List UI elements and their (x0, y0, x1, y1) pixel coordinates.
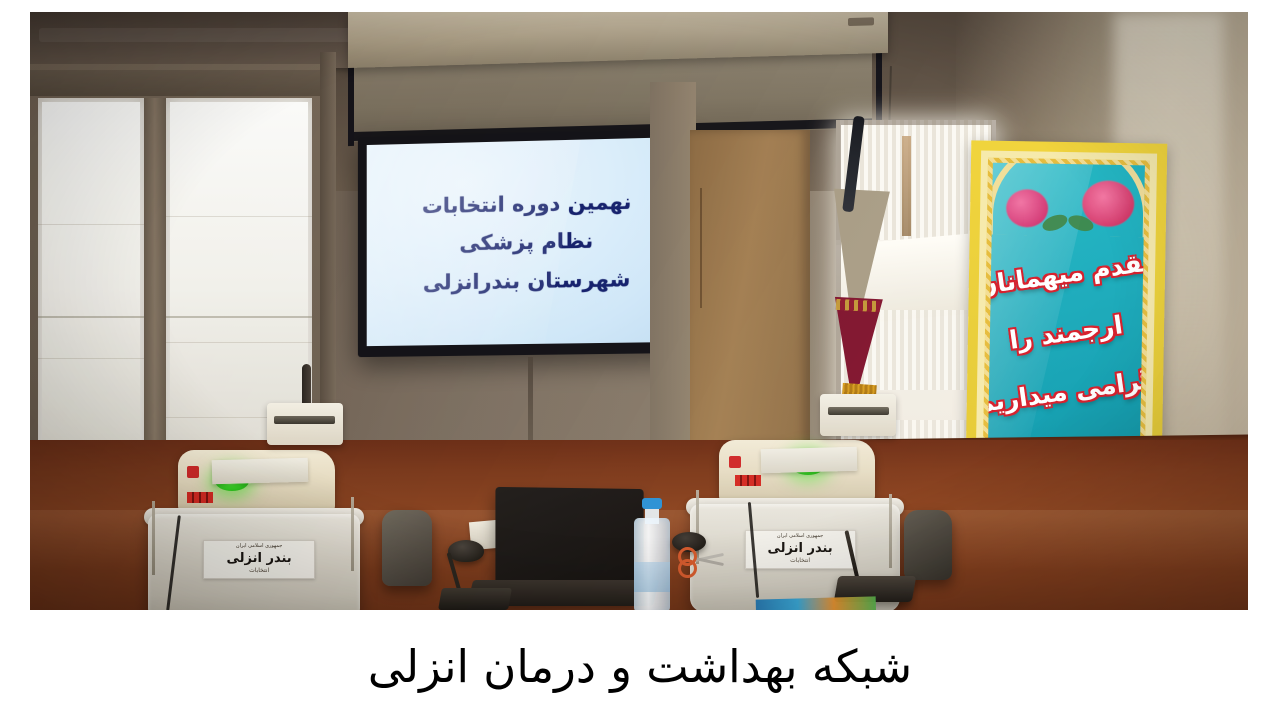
photo-container: نهمین دوره انتخابات نظام پزشکی شهرستان ب… (30, 12, 1248, 610)
desk-microphone-left[interactable] (434, 552, 520, 610)
receipt-printer-right[interactable] (820, 394, 896, 436)
label-main-text-left: بندر انزلی (206, 551, 312, 567)
microphone-base-left (438, 588, 512, 610)
window-header-rail (30, 70, 320, 96)
indicator-bar-right (735, 475, 761, 486)
slide-line-3: شهرستان بندرانزلی (423, 267, 631, 295)
tv-screen: نهمین دوره انتخابات نظام پزشکی شهرستان ب… (367, 137, 689, 346)
label-top-text-left: جمهوری اسلامی ایران (206, 544, 312, 550)
indicator-bar-left (187, 492, 213, 503)
desk-microphone-right[interactable] (826, 528, 922, 602)
slide-line-1: نهمین دوره انتخابات (422, 190, 632, 219)
instruction-paper-right (761, 447, 858, 474)
banner-line-1: مقدم میهمانان (987, 246, 1145, 300)
receipt-printer-left[interactable] (267, 403, 343, 445)
ballot-box-label-left: جمهوری اسلامی ایران بندر انزلی انتخابات (203, 540, 315, 579)
microphone-gooseneck-left (447, 552, 462, 592)
slide-line-2: نظام پزشکی (459, 229, 593, 256)
water-bottle[interactable] (634, 498, 670, 610)
flag-decorative-band (836, 299, 881, 312)
scissors-ring-lower (678, 559, 697, 578)
banner-line-2: ارجمند را (1008, 310, 1125, 355)
caption-bar: شبکه بهداشت و درمان انزلی (0, 614, 1280, 719)
seal-strap-left-a (152, 501, 155, 575)
label-sub-text-left: انتخابات (206, 568, 312, 575)
bottle-cap (642, 498, 662, 509)
ballot-box-left[interactable]: جمهوری اسلامی ایران بندر انزلی انتخابات (148, 397, 360, 610)
caption-text: شبکه بهداشت و درمان انزلی (368, 640, 912, 693)
colorful-poster (756, 596, 877, 610)
instruction-paper-left (211, 458, 308, 485)
microphone-gooseneck-right (844, 530, 859, 580)
seal-strap-left-b (351, 497, 354, 571)
ballot-box-bin-left: جمهوری اسلامی ایران بندر انزلی انتخابات (148, 514, 360, 610)
tv-display[interactable]: نهمین دوره انتخابات نظام پزشکی شهرستان ب… (358, 129, 698, 358)
page-root: نهمین دوره انتخابات نظام پزشکی شهرستان ب… (0, 0, 1280, 719)
bottle-label (634, 562, 670, 592)
banner-line-3: گرامی میداریم (987, 364, 1145, 418)
bag-left[interactable] (382, 510, 432, 586)
scissors-icon[interactable] (678, 546, 724, 574)
